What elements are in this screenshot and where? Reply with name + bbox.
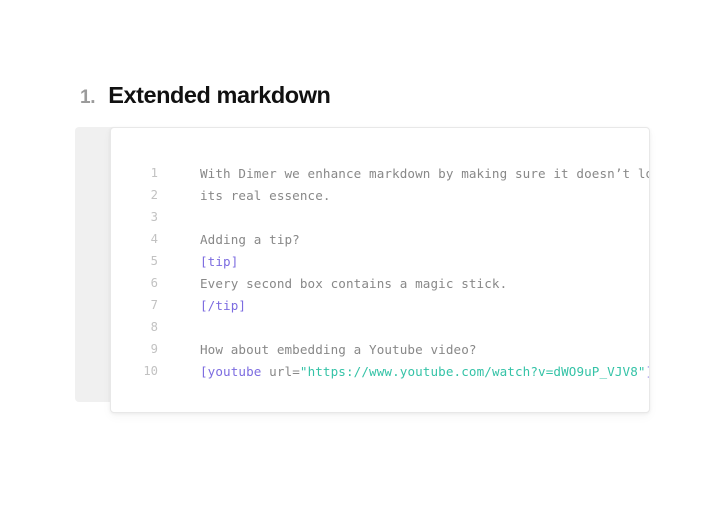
code-token-tag: [/tip] (200, 298, 246, 313)
code-token-plain: With Dimer we enhance markdown by making… (200, 166, 650, 181)
line-number: 7 (111, 298, 158, 312)
line-number: 1 (111, 166, 158, 180)
line-number: 3 (111, 210, 158, 224)
code-token-plain: Every second box contains a magic stick. (200, 276, 507, 291)
page-heading: 1. Extended markdown (80, 82, 330, 109)
line-number: 9 (111, 342, 158, 356)
code-line: 7[/tip] (111, 294, 649, 316)
line-number: 10 (111, 364, 158, 378)
code-line-content: Adding a tip? (158, 232, 649, 247)
code-token-plain: its real essence. (200, 188, 331, 203)
code-panel[interactable]: 1With Dimer we enhance markdown by makin… (110, 127, 650, 413)
code-token-tag: ] (646, 364, 650, 379)
code-line: 3 (111, 206, 649, 228)
page-root: 1. Extended markdown 1With Dimer we enha… (0, 0, 724, 512)
code-line-content: Every second box contains a magic stick. (158, 276, 649, 291)
line-number: 8 (111, 320, 158, 334)
line-number: 5 (111, 254, 158, 268)
code-token-plain: How about embedding a Youtube video? (200, 342, 477, 357)
code-line-content: [youtube url="https://www.youtube.com/wa… (158, 364, 650, 379)
code-line: 4Adding a tip? (111, 228, 649, 250)
code-token-plain: url= (261, 364, 299, 379)
code-line-content: [/tip] (158, 298, 649, 313)
code-line-content: its real essence. (158, 188, 649, 203)
code-line: 1With Dimer we enhance markdown by makin… (111, 162, 649, 184)
code-line: 5[tip] (111, 250, 649, 272)
code-line: 6Every second box contains a magic stick… (111, 272, 649, 294)
code-lines: 1With Dimer we enhance markdown by makin… (111, 162, 649, 382)
code-line: 2its real essence. (111, 184, 649, 206)
code-line-content: With Dimer we enhance markdown by making… (158, 166, 650, 181)
line-number: 2 (111, 188, 158, 202)
heading-number: 1. (80, 87, 95, 109)
code-token-string: "https://www.youtube.com/watch?v=dWO9uP_… (300, 364, 646, 379)
page-title: Extended markdown (108, 82, 330, 109)
code-token-plain: Adding a tip? (200, 232, 300, 247)
line-number: 6 (111, 276, 158, 290)
code-token-tag: [tip] (200, 254, 238, 269)
code-line: 8 (111, 316, 649, 338)
code-line-content: How about embedding a Youtube video? (158, 342, 649, 357)
code-line: 9How about embedding a Youtube video? (111, 338, 649, 360)
code-block: 1With Dimer we enhance markdown by makin… (75, 127, 650, 413)
code-line-content: [tip] (158, 254, 649, 269)
line-number: 4 (111, 232, 158, 246)
code-token-tag: [youtube (200, 364, 261, 379)
code-line: 10[youtube url="https://www.youtube.com/… (111, 360, 649, 382)
